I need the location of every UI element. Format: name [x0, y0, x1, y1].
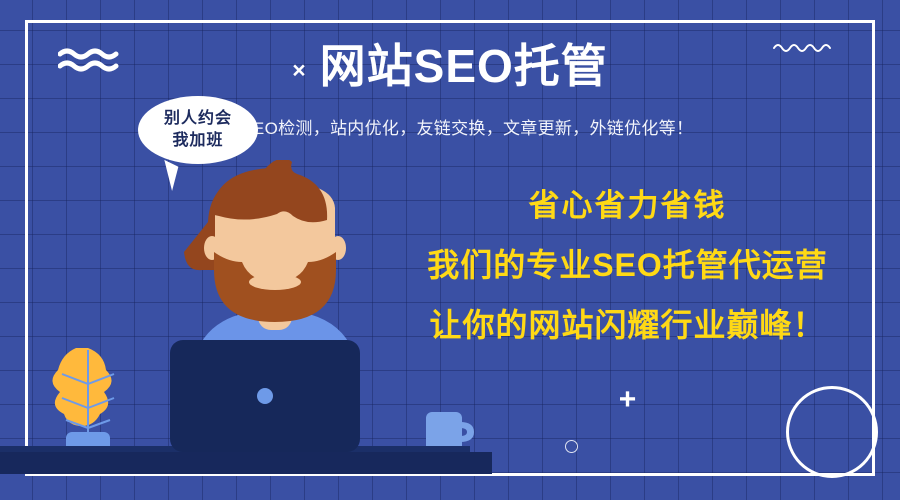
close-icon: × — [292, 59, 305, 82]
laptop-icon — [170, 340, 370, 463]
speech-bubble-line-2: 我加班 — [172, 130, 223, 152]
speech-bubble: 别人约会 我加班 — [138, 96, 258, 164]
title-row: × 网站SEO托管 — [0, 42, 900, 90]
page-title: 网站SEO托管 — [320, 42, 608, 90]
headline-line-3: 让你的网站闪耀行业巅峰！ — [380, 309, 875, 341]
headline-copy: 省心省力省钱 我们的专业SEO托管代运营 让你的网站闪耀行业巅峰！ — [380, 190, 875, 341]
seo-banner: × 网站SEO托管 含：SEO检测，站内优化，友链交换，文章更新，外链优化等！ … — [0, 0, 900, 500]
small-circle-decor — [565, 440, 578, 453]
speech-bubble-line-1: 别人约会 — [164, 108, 232, 130]
headline-line-2: 我们的专业SEO托管代运营 — [380, 249, 875, 281]
page-subtitle: 含：SEO检测，站内优化，友链交换，文章更新，外链优化等！ — [0, 118, 900, 140]
potted-leaf-plant-icon — [52, 340, 122, 457]
laptop-logo-dot — [257, 388, 273, 404]
headline-line-1: 省心省力省钱 — [380, 190, 875, 221]
